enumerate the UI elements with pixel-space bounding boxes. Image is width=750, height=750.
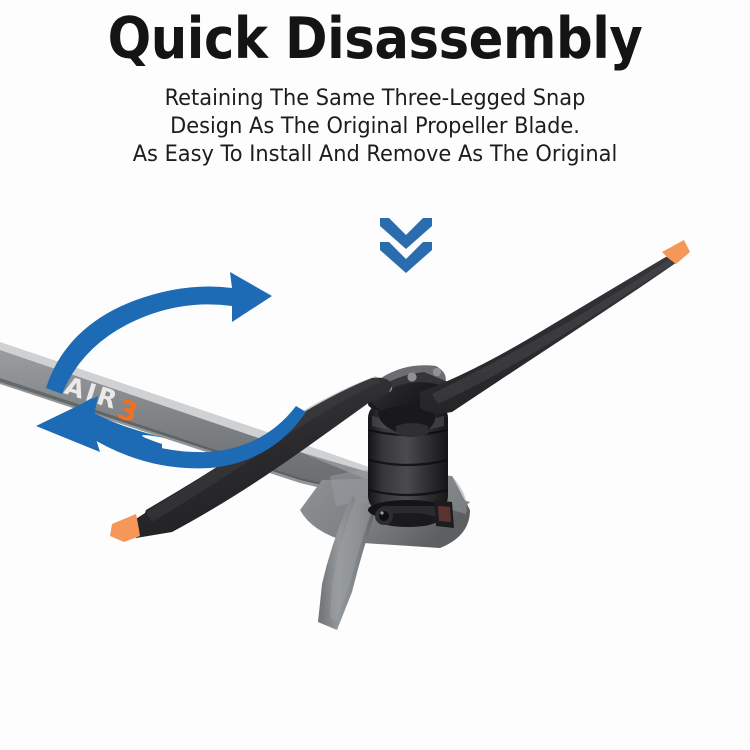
subtitle: Retaining The Same Three-Legged Snap Des… [26,70,724,168]
subtitle-line-1: Retaining The Same Three-Legged Snap [26,84,724,112]
sensor-lens [375,507,393,525]
subtitle-line-2: Design As The Original Propeller Blade. [26,112,724,140]
product-feature-image: Quick Disassembly Retaining The Same Thr… [0,0,750,750]
page-title: Quick Disassembly [38,0,713,70]
side-port [434,500,454,528]
drone-propeller-illustration: AIR 3 [0,180,750,750]
screw-icon [407,372,416,381]
header: Quick Disassembly Retaining The Same Thr… [0,0,750,168]
propeller-blade-right [420,240,690,413]
blade-tip-orange [110,514,140,542]
screw-icon [433,368,441,376]
subtitle-line-3: As Easy To Install And Remove As The Ori… [26,140,724,168]
